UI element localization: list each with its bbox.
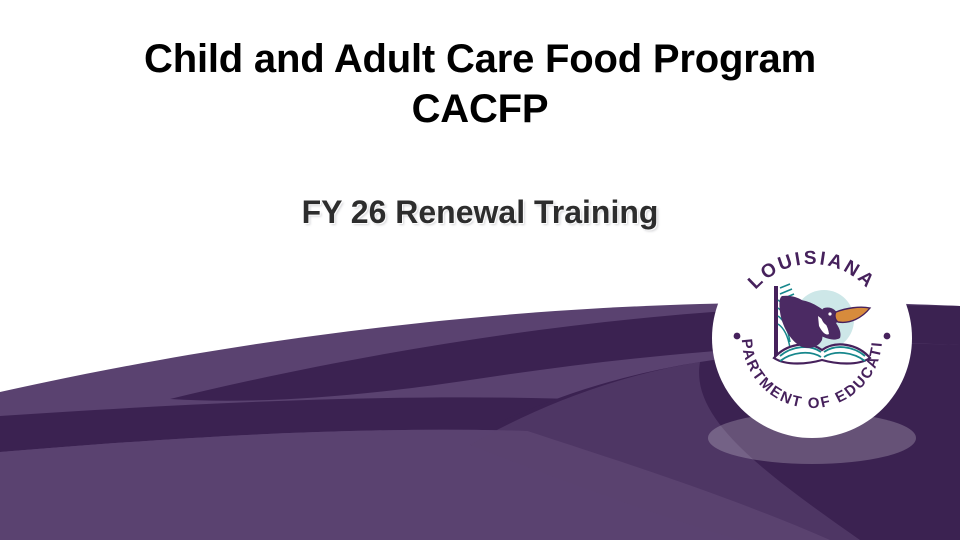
emblem-pelican-eye [828,312,831,315]
title-line-2: CACFP [0,84,960,134]
seal-dot-right-icon [884,333,891,340]
slide-title: Child and Adult Care Food Program CACFP [0,34,960,134]
title-line-1: Child and Adult Care Food Program [0,34,960,84]
emblem-book-spine [774,286,778,358]
louisiana-doe-seal-icon: LOUISIANA DEPARTMENT OF EDUCATION [712,238,912,438]
title-slide: Child and Adult Care Food Program CACFP … [0,0,960,540]
logo: LOUISIANA DEPARTMENT OF EDUCATION [712,238,912,438]
slide-subtitle: FY 26 Renewal Training [0,192,960,232]
seal-dot-left-icon [734,333,741,340]
subtitle-text: FY 26 Renewal Training [0,192,960,232]
